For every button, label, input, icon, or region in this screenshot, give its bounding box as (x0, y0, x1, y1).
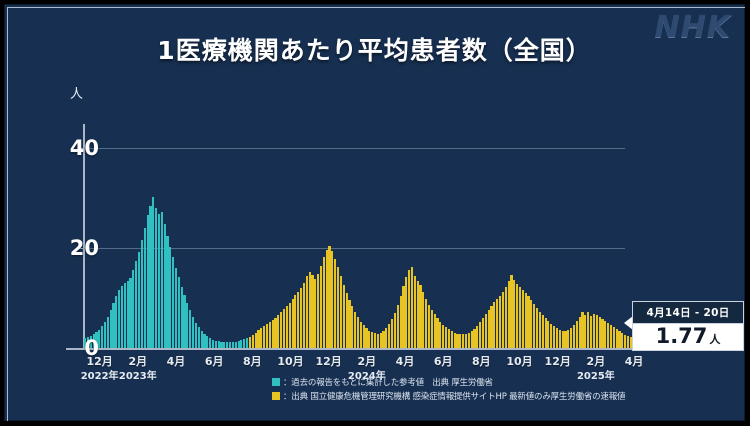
bar (164, 224, 166, 348)
bar (604, 321, 606, 348)
bar (209, 338, 211, 348)
bar (129, 278, 131, 348)
bar (232, 342, 234, 348)
bar (465, 334, 467, 349)
bar (593, 314, 595, 348)
bar (326, 250, 328, 348)
bar (317, 274, 319, 348)
bar (320, 266, 322, 348)
bar (354, 312, 356, 348)
bar (115, 296, 117, 348)
bar (530, 300, 532, 348)
bar (527, 296, 529, 348)
bar (181, 287, 183, 349)
bar (425, 299, 427, 348)
bar (266, 324, 268, 348)
bar (340, 276, 342, 348)
bar (547, 321, 549, 348)
bar (371, 332, 373, 348)
bar (508, 281, 510, 348)
bar (442, 325, 444, 349)
x-axis-month-label: 8月 (243, 353, 262, 369)
bar (499, 296, 501, 348)
bar (169, 247, 171, 349)
bar (147, 215, 149, 348)
bar (382, 331, 384, 348)
bar (192, 317, 194, 348)
bar (323, 257, 325, 348)
bar (201, 331, 203, 348)
bar (365, 328, 367, 348)
bar (206, 336, 208, 348)
bar (260, 328, 262, 348)
bar (337, 267, 339, 348)
bar (138, 252, 140, 348)
plot-area (84, 128, 644, 348)
y-axis-tick-label: 40 (39, 136, 99, 160)
bar (570, 328, 572, 348)
bar (294, 295, 296, 348)
bar (473, 329, 475, 348)
bar (459, 334, 461, 348)
bar (124, 283, 126, 348)
bar (436, 318, 438, 348)
bar (351, 306, 353, 348)
bar (328, 246, 330, 349)
bar (175, 268, 177, 348)
bar (360, 322, 362, 349)
bar (456, 334, 458, 349)
bar (471, 331, 473, 348)
callout-value-row: 1.77 人 (632, 323, 744, 351)
bar (539, 312, 541, 348)
bar (576, 321, 578, 348)
bar (257, 330, 259, 348)
bar (186, 303, 188, 348)
bar (584, 315, 586, 348)
y-axis-tick-label: 0 (39, 336, 99, 360)
bar (434, 314, 436, 348)
bar (567, 330, 569, 348)
bar (203, 334, 205, 349)
bar (519, 287, 521, 348)
bar (525, 293, 527, 348)
bar (297, 292, 299, 348)
bar (607, 323, 609, 348)
bar (218, 341, 220, 348)
bar (479, 322, 481, 348)
bar (306, 276, 308, 348)
bar (601, 319, 603, 348)
bar (380, 333, 382, 348)
bar (357, 317, 359, 348)
legend-item: ：過去の報告をもとに集計した参考値 出典 厚生労働省 (272, 376, 625, 388)
bar (107, 317, 109, 348)
bar (272, 320, 274, 348)
bar (439, 322, 441, 349)
bar (280, 312, 282, 348)
bar (522, 290, 524, 348)
bar (277, 315, 279, 348)
bar (397, 305, 399, 348)
bar (255, 333, 257, 349)
bar (590, 316, 592, 348)
bar (505, 287, 507, 348)
bar (536, 308, 538, 348)
bar (311, 275, 313, 348)
bar (158, 214, 160, 348)
bar (274, 318, 276, 349)
bar (581, 312, 583, 348)
bar (118, 290, 120, 348)
x-axis-month-label: 12月 (545, 353, 571, 369)
bar (132, 270, 134, 348)
x-axis-month-label: 4月 (396, 353, 415, 369)
bar (596, 315, 598, 348)
latest-value-callout: 4月14日 - 20日 1.77 人 (632, 301, 744, 351)
bar (309, 272, 311, 348)
bar (562, 331, 564, 349)
callout-period: 4月14日 - 20日 (632, 301, 744, 323)
bar (553, 326, 555, 348)
bar (198, 327, 200, 348)
bar (343, 285, 345, 348)
bar (627, 336, 629, 349)
bar (377, 334, 379, 349)
bar (135, 261, 137, 348)
bar (286, 306, 288, 348)
bar (533, 304, 535, 348)
bar (195, 323, 197, 348)
bar (610, 325, 612, 348)
bar (445, 327, 447, 348)
bar (573, 325, 575, 348)
bar (289, 303, 291, 349)
x-axis-line (66, 348, 666, 350)
bar (223, 342, 225, 348)
bar (468, 333, 470, 349)
bar (419, 285, 421, 348)
bar (252, 335, 254, 348)
bar (283, 309, 285, 348)
bar (482, 318, 484, 348)
bar (183, 295, 185, 348)
bar (493, 302, 495, 348)
bar (220, 342, 222, 349)
bar (431, 310, 433, 348)
bar (616, 329, 618, 348)
bar (161, 212, 163, 348)
legend-color-swatch (272, 378, 280, 386)
bar (348, 300, 350, 348)
bar (110, 310, 112, 348)
bar (112, 303, 114, 348)
bar (599, 317, 601, 348)
bar (303, 283, 305, 349)
bar (269, 322, 271, 348)
bar (121, 286, 123, 348)
bar (374, 333, 376, 348)
x-axis-month-label: 10月 (277, 353, 303, 369)
bar (314, 279, 316, 348)
bar (226, 342, 228, 348)
bar (422, 292, 424, 348)
bar (454, 333, 456, 349)
bar (101, 326, 103, 348)
chart-legend: ：過去の報告をもとに集計した参考値 出典 厚生労働省：出典 国立健康危機管理研究… (272, 376, 625, 404)
x-axis-month-label: 8月 (472, 353, 491, 369)
bar (235, 342, 237, 349)
bar (394, 313, 396, 348)
bar (388, 324, 390, 348)
y-axis-unit-label: 人 (70, 83, 83, 102)
x-axis-month-label: 10月 (506, 353, 532, 369)
bar (166, 236, 168, 348)
bar (141, 240, 143, 348)
bar (451, 331, 453, 348)
bar (428, 305, 430, 348)
bar (556, 328, 558, 348)
bar (417, 281, 419, 348)
bar (462, 334, 464, 348)
bar (331, 251, 333, 348)
bar (189, 310, 191, 348)
chart-panel: NHK 1医療機関あたり平均患者数（全国） 人 12月2月4月6月8月10月12… (4, 4, 745, 421)
bar (542, 315, 544, 348)
bar (246, 338, 248, 348)
callout-value: 1.77 (656, 326, 708, 347)
bar (152, 197, 154, 348)
bar (368, 331, 370, 349)
bar (513, 280, 515, 348)
bar (624, 335, 626, 349)
bar (618, 331, 620, 348)
bar (385, 328, 387, 348)
legend-label: ：出典 国立健康危機管理研究機構 感染症情報提供サイトHP 最新値のみ厚生労働省… (283, 390, 625, 402)
bar (400, 296, 402, 348)
bar (300, 288, 302, 348)
bar (363, 325, 365, 348)
bar (212, 340, 214, 349)
bar (613, 327, 615, 348)
bar (263, 326, 265, 348)
bar (238, 341, 240, 348)
page-title: 1医療機関あたり平均患者数（全国） (4, 31, 745, 67)
x-axis-month-label: 4月 (625, 353, 644, 369)
bar (402, 286, 404, 348)
bar (346, 293, 348, 348)
bar (408, 270, 410, 348)
bar-series-container (84, 128, 644, 348)
x-axis-month-label: 6月 (434, 353, 453, 369)
bar (155, 208, 157, 348)
bar (414, 276, 416, 348)
bar (490, 306, 492, 348)
bar (564, 331, 566, 348)
bar (485, 314, 487, 348)
bar (240, 340, 242, 348)
bar (516, 284, 518, 348)
bar (149, 206, 151, 348)
bar (127, 281, 129, 348)
x-axis-month-label: 6月 (205, 353, 224, 369)
bar (550, 324, 552, 349)
bar (488, 310, 490, 348)
legend-item: ：出典 国立健康危機管理研究機構 感染症情報提供サイトHP 最新値のみ厚生労働省… (272, 390, 625, 402)
bar (104, 322, 106, 348)
bar (411, 267, 413, 348)
bar (391, 319, 393, 348)
bar (510, 275, 512, 348)
bar (144, 228, 146, 348)
callout-unit: 人 (709, 331, 720, 347)
x-axis-month-label: 4月 (167, 353, 186, 369)
legend-label: ：過去の報告をもとに集計した参考値 出典 厚生労働省 (283, 376, 493, 388)
bar (587, 312, 589, 348)
bar (172, 257, 174, 348)
bar (249, 337, 251, 348)
bar (476, 326, 478, 348)
bar (229, 342, 231, 348)
bar (559, 330, 561, 349)
bar (502, 292, 504, 348)
y-axis-tick-label: 20 (39, 236, 99, 260)
x-axis-year-label: 2022年 (81, 367, 119, 382)
screenshot-frame: NHK 1医療機関あたり平均患者数（全国） 人 12月2月4月6月8月10月12… (0, 0, 750, 426)
bar (405, 277, 407, 348)
bar (292, 299, 294, 348)
bar (579, 317, 581, 349)
bar (545, 318, 547, 348)
bar (334, 259, 336, 348)
x-axis-year-label: 2023年 (119, 367, 157, 382)
bar (448, 329, 450, 348)
bar (215, 341, 217, 349)
legend-color-swatch (272, 392, 280, 400)
bar (178, 277, 180, 348)
bar (621, 333, 623, 348)
x-axis-month-label: 12月 (316, 353, 342, 369)
bar (243, 339, 245, 348)
bar (496, 299, 498, 348)
